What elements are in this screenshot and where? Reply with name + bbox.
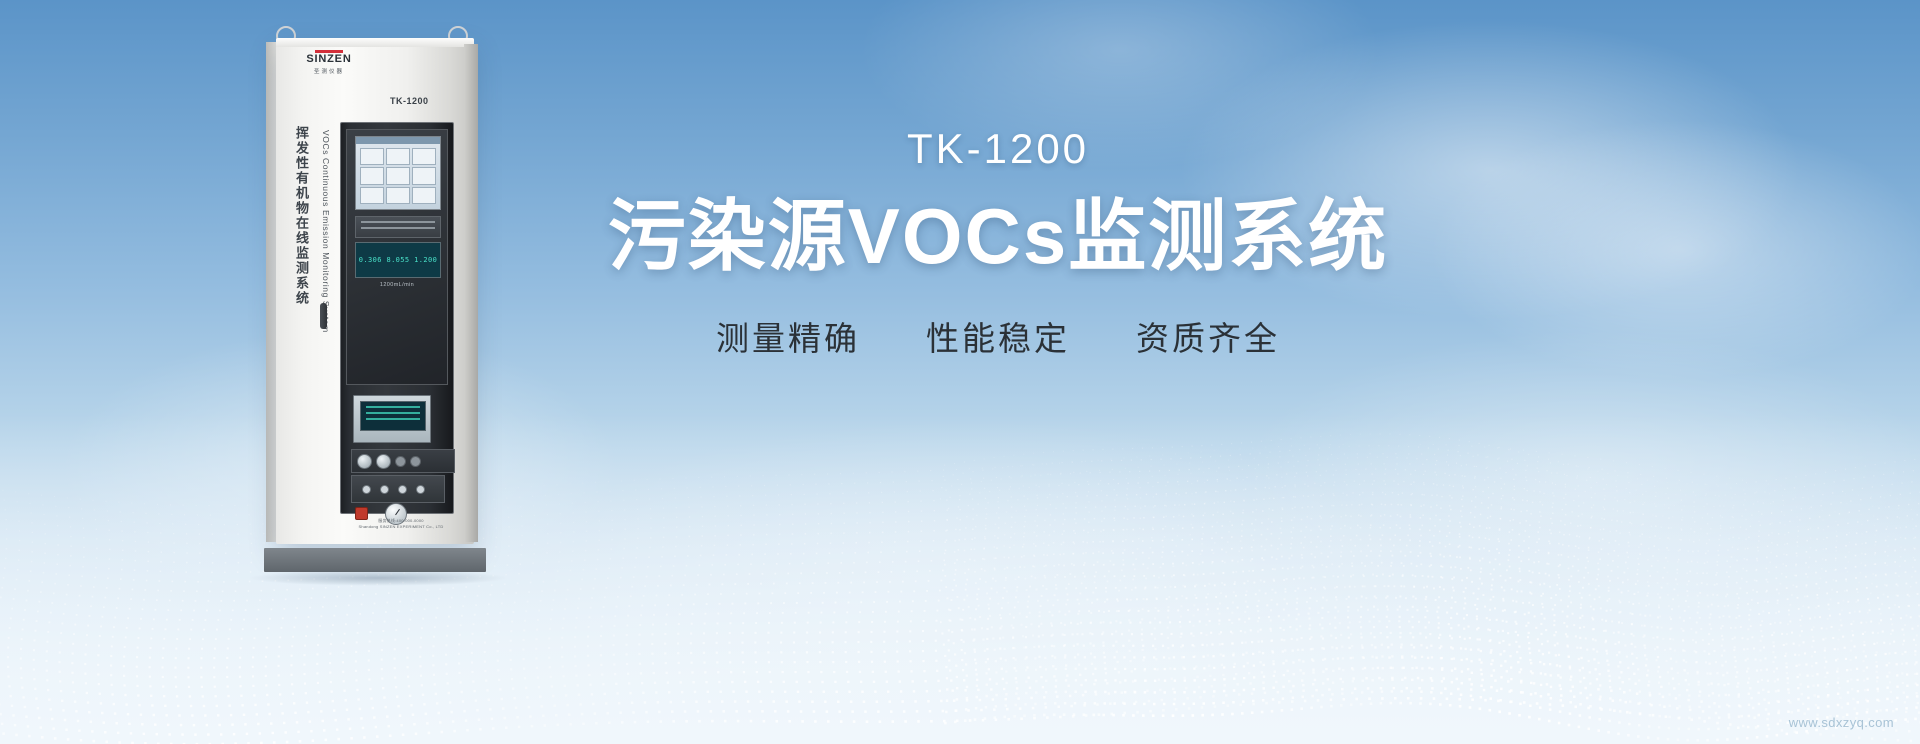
feature-item: 测量精确 — [716, 312, 860, 360]
hmi-cell — [412, 187, 436, 204]
company-name-en: Shandong SINZEN EXPERIMENT Co., LTD — [346, 524, 456, 530]
module-slot — [361, 227, 435, 229]
product-model: TK-1200 — [548, 128, 1448, 170]
cabinet-right-edge — [464, 44, 478, 542]
hmi-cell — [386, 167, 410, 184]
door-handle — [320, 303, 327, 329]
hmi-cell — [360, 187, 384, 204]
lcd-screen — [360, 401, 426, 431]
dot-wave-mesh-right-icon — [940, 424, 1920, 744]
cabinet-vertical-text-cn: 挥发性有机物在线监测系统 — [288, 126, 310, 306]
cabinet-door: 0.306 8.055 1.200 1200mL/min — [340, 122, 454, 514]
cabinet-footer-text: 服务热线:400-000-0000 Shandong SINZEN EXPERI… — [346, 518, 456, 530]
feature-item: 性能稳定 — [926, 312, 1070, 360]
product-image-cabinet: SINZEN 圣测仪器 TK-1200 挥发性有机物在线监测系统 VOCs Co… — [258, 18, 498, 578]
pressure-gauge-icon — [376, 454, 391, 469]
feature-list: 测量精确 性能稳定 资质齐全 — [548, 312, 1448, 360]
controller-lcd — [353, 395, 431, 443]
valve-port-icon — [362, 485, 371, 494]
brand-name: SINZEN — [294, 54, 364, 65]
hmi-cell — [412, 167, 436, 184]
cabinet-model-label: TK-1200 — [390, 96, 429, 106]
valve-port-icon — [416, 485, 425, 494]
lcd-line — [366, 406, 420, 408]
module-slot — [361, 221, 435, 223]
cabinet-top — [276, 38, 474, 47]
valve-port-icon — [380, 485, 389, 494]
hmi-button-grid — [360, 148, 436, 204]
lcd-line — [366, 418, 420, 420]
control-knob-icon — [410, 456, 421, 467]
site-watermark: www.sdxzyq.com — [1789, 715, 1894, 730]
cloud-bloom — [1430, 120, 1920, 380]
hmi-touch-panel — [355, 136, 441, 210]
hmi-cell — [360, 167, 384, 184]
valve-port-icon — [398, 485, 407, 494]
hmi-cell — [386, 148, 410, 165]
product-banner: SINZEN 圣测仪器 TK-1200 挥发性有机物在线监测系统 VOCs Co… — [0, 0, 1920, 744]
flow-rate-label: 1200mL/min — [355, 282, 439, 288]
valve-manifold — [351, 475, 445, 503]
cabinet-shadow — [248, 570, 508, 586]
hmi-title-bar — [356, 137, 440, 144]
lcd-line — [366, 412, 420, 414]
page-title: 污染源VOCs监测系统 — [548, 196, 1448, 278]
readout-value: 0.306 8.055 1.200 — [359, 256, 437, 264]
brand-logo: SINZEN 圣测仪器 — [294, 50, 364, 75]
module-panel — [355, 216, 441, 238]
hmi-cell — [360, 148, 384, 165]
pressure-gauge-icon — [357, 454, 372, 469]
hmi-cell — [412, 148, 436, 165]
hmi-cell — [386, 187, 410, 204]
control-row — [351, 449, 455, 473]
cabinet-base — [264, 548, 486, 572]
brand-name-cn: 圣测仪器 — [294, 67, 364, 75]
feature-item: 资质齐全 — [1136, 312, 1280, 360]
digital-readout-display: 0.306 8.055 1.200 — [355, 242, 441, 278]
control-knob-icon — [395, 456, 406, 467]
door-window: 0.306 8.055 1.200 1200mL/min — [346, 129, 448, 385]
banner-copy-block: TK-1200 污染源VOCs监测系统 测量精确 性能稳定 资质齐全 — [548, 128, 1448, 360]
